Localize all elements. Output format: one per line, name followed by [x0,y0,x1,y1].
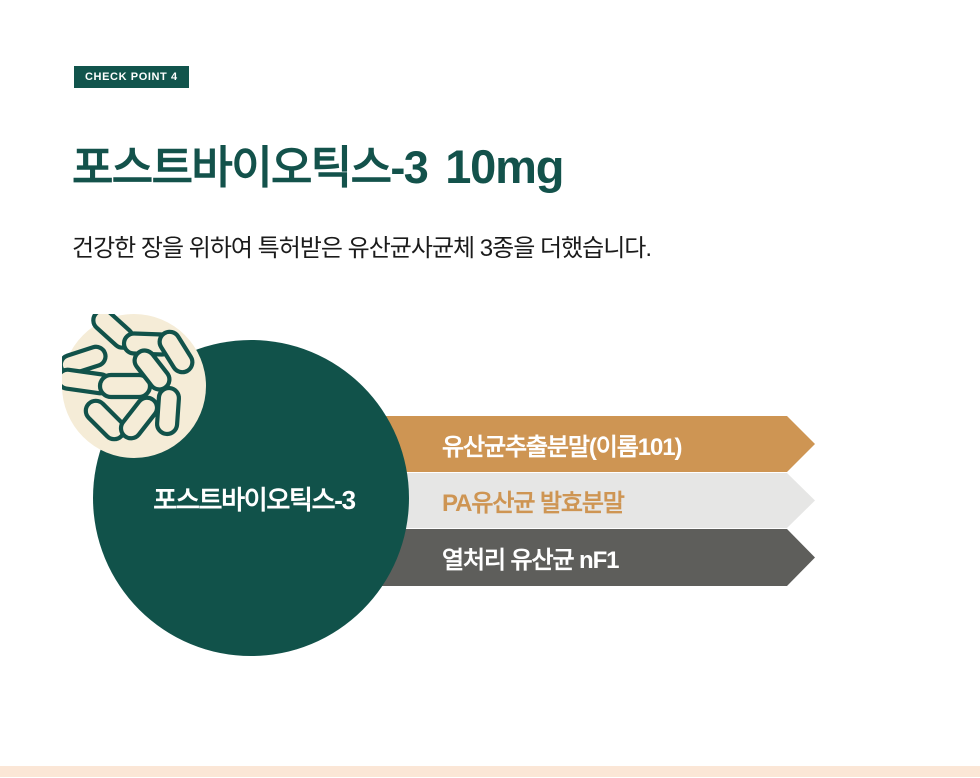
page-title: 포스트바이오틱스-3 10mg [72,143,563,190]
promo-page: CHECK POINT 4 포스트바이오틱스-3 10mg 건강한 장을 위하여… [0,0,980,778]
page-title-dose: 10mg [445,143,563,190]
ingredient-band-label: 열처리 유산균 nF1 [442,540,618,575]
bacteria-icon [62,314,206,458]
ingredient-band-label: PA유산균 발효분말 [442,483,624,518]
bottom-divider [0,766,980,777]
page-subtitle: 건강한 장을 위하여 특허받은 유산균사균체 3종을 더했습니다. [72,228,651,263]
page-title-main: 포스트바이오틱스-3 [72,145,427,190]
check-point-badge: CHECK POINT 4 [74,66,189,88]
ingredient-band-label: 유산균추출분말(이롬101) [442,427,681,462]
